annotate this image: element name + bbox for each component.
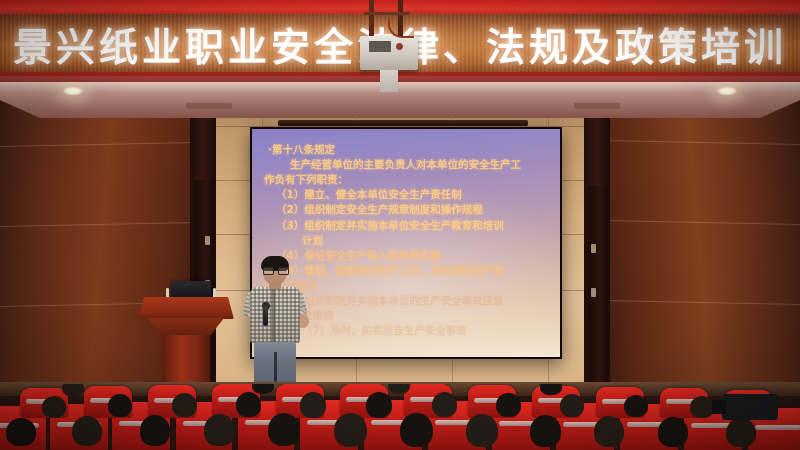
- audience-head: [400, 413, 433, 447]
- glasses-icon: [263, 267, 287, 273]
- audience-head: [62, 384, 84, 396]
- slide-item-7: （7）及时、如实报告生产安全事故: [302, 324, 550, 339]
- audience-head: [334, 413, 367, 447]
- slide-item-4: （4）保证安全生产投入的有效实施: [276, 249, 550, 264]
- right-side-door[interactable]: [588, 186, 608, 390]
- presenter-shirt-placket: [272, 287, 275, 343]
- device-indicator-icon: [396, 43, 403, 50]
- slide-item-3-cont: 计划: [302, 234, 550, 249]
- podium: [138, 289, 234, 385]
- right-wood-wall: [604, 78, 800, 390]
- audience-head: [432, 392, 457, 417]
- screen-mount-rail: [278, 120, 528, 126]
- laptop-icon: [171, 281, 211, 298]
- audience-head: [140, 415, 170, 446]
- slide-item-6: （6）组织制定并实施本单位的生产安全事故应急: [276, 294, 550, 309]
- spotlight-icon-right: [716, 86, 738, 96]
- podium-top-surface: [138, 297, 234, 319]
- conference-hall-screenshot: ·第十八条规定 生产经营单位的主要负责人对本单位的安全生产工 作负有下列职责： …: [0, 0, 800, 450]
- podium-apron: [148, 318, 224, 336]
- slide-line-1: 作负有下列职责：: [264, 173, 550, 188]
- audience-head: [366, 392, 392, 418]
- ceiling-control-box: [358, 0, 420, 78]
- presenter-shirt: [250, 287, 300, 343]
- audience-head: [108, 394, 132, 417]
- device-display: [369, 41, 391, 52]
- audience-head: [658, 417, 688, 447]
- audience-head: [466, 414, 498, 447]
- audience-head: [496, 393, 521, 417]
- audience-head: [624, 395, 648, 417]
- microphone-icon: [263, 306, 268, 326]
- audience-head: [594, 416, 624, 447]
- slide-item-2: （2）组织制定安全生产规章制度和操作规程: [276, 203, 550, 218]
- presenter: [236, 258, 314, 390]
- audience-head: [300, 392, 326, 418]
- ceiling-vent-left: [186, 102, 232, 109]
- slide-item-5: （5）督促、检查安全生产工作，及时消除生产安: [276, 264, 550, 279]
- audience-head: [172, 393, 197, 417]
- slide-title: ·第十八条规定: [268, 143, 550, 158]
- audience-head: [690, 396, 714, 418]
- podium-base: [162, 335, 210, 385]
- audience-head: [42, 396, 66, 418]
- device-cable: [388, 18, 414, 38]
- audience-head: [560, 394, 584, 417]
- audience-seating: [0, 384, 800, 450]
- rear-camera-lens: [712, 400, 726, 414]
- slide-item-1: （1）建立、健全本单位安全生产责任制: [276, 188, 550, 203]
- audience-head: [6, 418, 36, 446]
- audience-head: [204, 414, 235, 446]
- slide-item-3: （3）组织制定并实施本单位安全生产教育和培训: [276, 219, 550, 234]
- ceiling-vent-right: [574, 102, 620, 109]
- audience-head: [530, 415, 561, 447]
- slide-line-0: 生产经营单位的主要负责人对本单位的安全生产工: [290, 158, 550, 173]
- audience-head: [72, 416, 102, 446]
- spotlight-icon-left: [62, 86, 84, 96]
- slide-item-6-cont: 救援预: [302, 309, 550, 324]
- audience-head: [268, 413, 300, 446]
- rear-camera-equipment: [722, 394, 778, 420]
- audience-head: [252, 384, 274, 394]
- audience-head: [726, 418, 756, 447]
- audience-head: [236, 392, 261, 417]
